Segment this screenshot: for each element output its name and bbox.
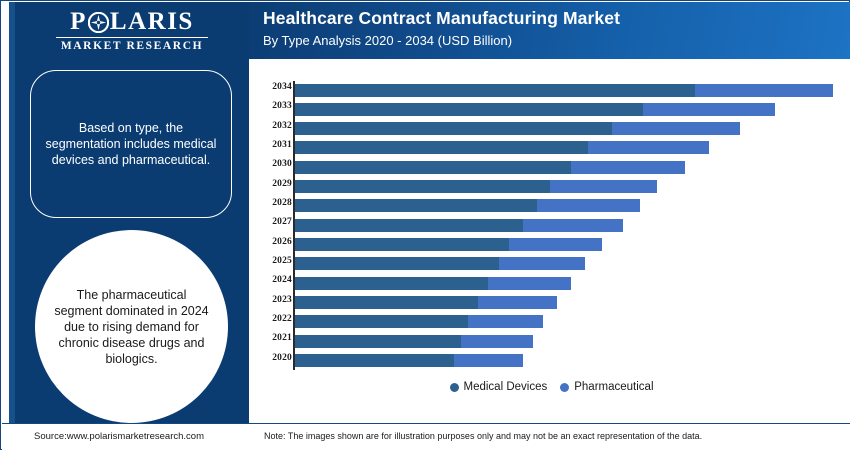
bar-row: 2026 (251, 236, 850, 255)
plot-area: 2034203320322031203020292028202720262025… (251, 81, 850, 371)
legend-swatch-icon (450, 383, 459, 392)
logo-text-p: P (70, 8, 87, 36)
y-axis-label: 2032 (172, 121, 292, 131)
y-axis-label: 2024 (172, 275, 292, 285)
y-axis-label: 2030 (172, 159, 292, 169)
bar-segment-medical-devices (295, 315, 468, 328)
stacked-bar (295, 354, 523, 367)
bar-rows: 2034203320322031203020292028202720262025… (251, 81, 850, 371)
bar-segment-medical-devices (295, 141, 588, 154)
bar-segment-medical-devices (295, 257, 499, 270)
bar-segment-medical-devices (295, 180, 550, 193)
stacked-bar (295, 103, 775, 116)
source-text: Source:www.polarismarketresearch.com (34, 431, 204, 442)
bar-row: 2030 (251, 158, 850, 177)
stacked-bar (295, 277, 571, 290)
bar-segment-pharmaceutical (588, 141, 709, 154)
bar-segment-medical-devices (295, 199, 537, 212)
chart-container: 2034203320322031203020292028202720262025… (249, 59, 850, 423)
disclaimer-note: Note: The images shown are for illustrat… (264, 431, 702, 441)
bar-row: 2020 (251, 352, 850, 371)
stacked-bar (295, 180, 657, 193)
stacked-bar (295, 141, 709, 154)
logo-tagline: MARKET RESEARCH (15, 40, 249, 52)
stacked-bar (295, 219, 623, 232)
bar-segment-pharmaceutical (468, 315, 544, 328)
bar-row: 2021 (251, 332, 850, 351)
y-axis-label: 2026 (172, 237, 292, 247)
bar-segment-medical-devices (295, 103, 643, 116)
header-band: Healthcare Contract Manufacturing Market… (249, 2, 850, 59)
stacked-bar (295, 199, 640, 212)
bar-row: 2028 (251, 197, 850, 216)
infographic-page: P LARIS MARKET RESEARCH Based on type, t… (0, 0, 850, 450)
bar-row: 2023 (251, 294, 850, 313)
bar-segment-medical-devices (295, 238, 509, 251)
bar-segment-pharmaceutical (550, 180, 657, 193)
bar-segment-medical-devices (295, 219, 523, 232)
stacked-bar (295, 257, 585, 270)
logo-wordmark: P LARIS (15, 8, 249, 36)
bar-segment-pharmaceutical (537, 199, 641, 212)
legend-swatch-icon (560, 383, 569, 392)
legend-label: Pharmaceutical (574, 381, 653, 393)
y-axis-label: 2020 (172, 353, 292, 363)
bar-row: 2032 (251, 120, 850, 139)
y-axis-label: 2031 (172, 140, 292, 150)
bar-segment-medical-devices (295, 335, 461, 348)
bar-row: 2027 (251, 216, 850, 235)
stacked-bar (295, 84, 833, 97)
bar-segment-pharmaceutical (461, 335, 533, 348)
stacked-bar (295, 238, 602, 251)
y-axis-label: 2029 (172, 179, 292, 189)
bar-segment-pharmaceutical (695, 84, 833, 97)
stacked-bar (295, 335, 533, 348)
bar-row: 2034 (251, 81, 850, 100)
bar-row: 2025 (251, 255, 850, 274)
y-axis-label: 2034 (172, 82, 292, 92)
bar-segment-pharmaceutical (488, 277, 571, 290)
bar-segment-medical-devices (295, 277, 488, 290)
bar-segment-pharmaceutical (509, 238, 602, 251)
bar-segment-pharmaceutical (478, 296, 557, 309)
page-title: Healthcare Contract Manufacturing Market (263, 7, 850, 30)
bar-segment-pharmaceutical (454, 354, 523, 367)
bar-row: 2022 (251, 313, 850, 332)
chart-legend: Medical DevicesPharmaceutical (251, 377, 850, 397)
y-axis-label: 2033 (172, 101, 292, 111)
stacked-bar (295, 161, 685, 174)
bar-row: 2033 (251, 100, 850, 119)
legend-item[interactable]: Pharmaceutical (560, 381, 653, 393)
bar-segment-pharmaceutical (499, 257, 585, 270)
y-axis-label: 2028 (172, 198, 292, 208)
bar-segment-pharmaceutical (571, 161, 685, 174)
bar-row: 2031 (251, 139, 850, 158)
stacked-bar (295, 296, 557, 309)
bar-segment-pharmaceutical (643, 103, 774, 116)
polaris-logo: P LARIS MARKET RESEARCH (15, 8, 249, 56)
bar-segment-medical-devices (295, 354, 454, 367)
bar-row: 2024 (251, 274, 850, 293)
y-axis-label: 2023 (172, 295, 292, 305)
stacked-bar (295, 122, 740, 135)
compass-star-icon (88, 12, 109, 33)
page-subtitle: By Type Analysis 2020 - 2034 (USD Billio… (263, 32, 850, 50)
bar-segment-pharmaceutical (612, 122, 740, 135)
logo-divider (56, 37, 208, 38)
bar-segment-medical-devices (295, 161, 571, 174)
y-axis-label: 2022 (172, 314, 292, 324)
logo-text-laris: LARIS (110, 8, 194, 36)
legend-label: Medical Devices (464, 381, 548, 393)
bar-segment-pharmaceutical (523, 219, 623, 232)
bar-segment-medical-devices (295, 122, 612, 135)
y-axis-label: 2021 (172, 333, 292, 343)
stacked-bar (295, 315, 543, 328)
footer-bar: Source:www.polarismarketresearch.com Not… (2, 423, 850, 450)
legend-item[interactable]: Medical Devices (450, 381, 548, 393)
bar-segment-medical-devices (295, 84, 695, 97)
y-axis-label: 2027 (172, 217, 292, 227)
y-axis-label: 2025 (172, 256, 292, 266)
bar-row: 2029 (251, 178, 850, 197)
bar-segment-medical-devices (295, 296, 478, 309)
